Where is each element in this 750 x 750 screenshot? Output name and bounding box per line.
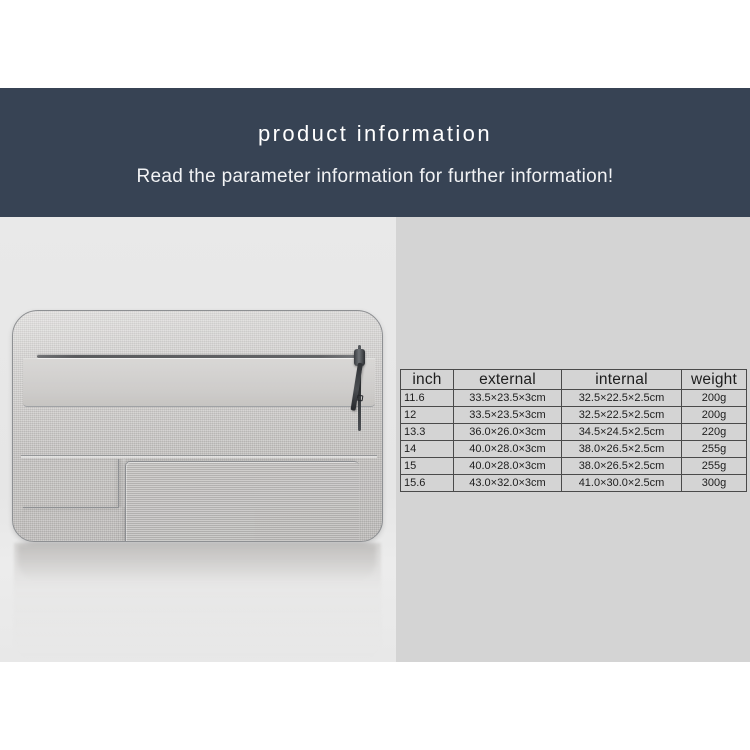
cell-external: 40.0×28.0×3cm (454, 458, 562, 475)
cell-weight: 200g (682, 390, 747, 407)
cell-inch: 15 (401, 458, 454, 475)
cell-external: 40.0×28.0×3cm (454, 441, 562, 458)
cell-external: 43.0×32.0×3cm (454, 475, 562, 492)
cell-internal: 32.5×22.5×2.5cm (562, 407, 682, 424)
laptop-sleeve-photo (0, 217, 396, 662)
banner: product information Read the parameter i… (0, 88, 750, 217)
cell-external: 36.0×26.0×3cm (454, 424, 562, 441)
spec-table-wrapper: inch external internal weight 11.6 33.5×… (400, 369, 746, 492)
column-header-internal: internal (562, 370, 682, 390)
sleeve-small-pocket-lower (23, 507, 119, 542)
sleeve-side-zipper-pull-eyelet (357, 395, 364, 402)
photo-reflection-core (18, 544, 376, 580)
cell-weight: 255g (682, 458, 747, 475)
cell-inch: 15.6 (401, 475, 454, 492)
cell-inch: 11.6 (401, 390, 454, 407)
specification-table: inch external internal weight 11.6 33.5×… (400, 369, 747, 492)
spec-panel: inch external internal weight 11.6 33.5×… (396, 217, 750, 662)
column-header-external: external (454, 370, 562, 390)
cell-internal: 32.5×22.5×2.5cm (562, 390, 682, 407)
content-area: inch external internal weight 11.6 33.5×… (0, 217, 750, 662)
cell-inch: 13.3 (401, 424, 454, 441)
table-row: 13.3 36.0×26.0×3cm 34.5×24.5×2.5cm 220g (401, 424, 747, 441)
banner-subtitle: Read the parameter information for furth… (137, 167, 614, 186)
table-row: 12 33.5×23.5×3cm 32.5×22.5×2.5cm 200g (401, 407, 747, 424)
cell-internal: 38.0×26.5×2.5cm (562, 458, 682, 475)
cell-internal: 41.0×30.0×2.5cm (562, 475, 682, 492)
table-row: 14 40.0×28.0×3cm 38.0×26.5×2.5cm 255g (401, 441, 747, 458)
sleeve-top-pocket-zipper (37, 355, 359, 358)
sleeve-top-pocket-face (23, 358, 375, 407)
cell-internal: 38.0×26.5×2.5cm (562, 441, 682, 458)
cell-weight: 220g (682, 424, 747, 441)
table-row: 15.6 43.0×32.0×3cm 41.0×30.0×2.5cm 300g (401, 475, 747, 492)
column-header-weight: weight (682, 370, 747, 390)
bottom-white-margin (0, 662, 750, 750)
cell-weight: 200g (682, 407, 747, 424)
sleeve-middle-seam-highlight (21, 456, 377, 458)
sleeve-large-front-pocket (125, 461, 359, 542)
product-information-page: product information Read the parameter i… (0, 0, 750, 750)
cell-inch: 14 (401, 441, 454, 458)
cell-external: 33.5×23.5×3cm (454, 407, 562, 424)
cell-weight: 300g (682, 475, 747, 492)
cell-inch: 12 (401, 407, 454, 424)
cell-internal: 34.5×24.5×2.5cm (562, 424, 682, 441)
table-row: 11.6 33.5×23.5×3cm 32.5×22.5×2.5cm 200g (401, 390, 747, 407)
page-title: product information (258, 123, 492, 145)
product-photo-panel (0, 217, 396, 662)
cell-weight: 255g (682, 441, 747, 458)
top-white-margin (0, 0, 750, 88)
sleeve-small-pocket-upper (23, 459, 119, 507)
column-header-inch: inch (401, 370, 454, 390)
sleeve-body (12, 310, 383, 542)
table-row: 15 40.0×28.0×3cm 38.0×26.5×2.5cm 255g (401, 458, 747, 475)
table-header-row: inch external internal weight (401, 370, 747, 390)
cell-external: 33.5×23.5×3cm (454, 390, 562, 407)
